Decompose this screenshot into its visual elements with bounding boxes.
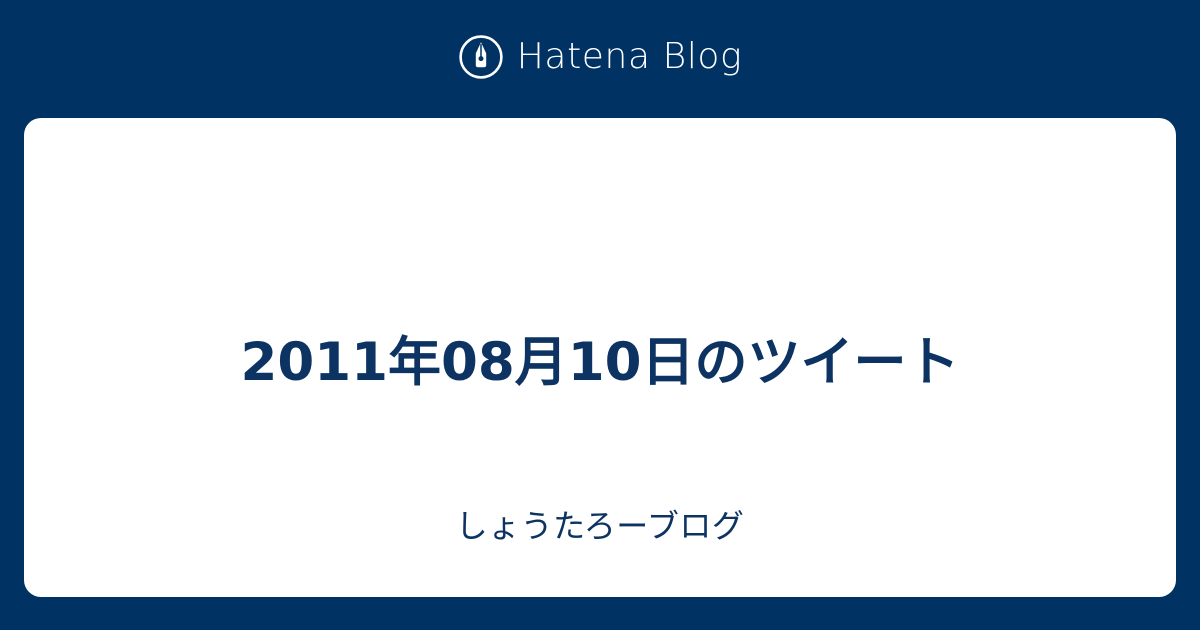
entry-title: 2011年08月10日のツイート — [24, 332, 1176, 393]
entry-card: 2011年08月10日のツイート しょうたろーブログ — [24, 118, 1176, 597]
service-header: Hatena Blog — [0, 0, 1200, 118]
pen-nib-circle-icon — [458, 34, 504, 80]
blog-name: しょうたろーブログ — [24, 507, 1176, 545]
og-image-canvas: Hatena Blog 2011年08月10日のツイート しょうたろーブログ — [0, 0, 1200, 630]
service-name-label: Hatena Blog — [517, 39, 743, 75]
hatena-blog-logo[interactable]: Hatena Blog — [458, 34, 743, 80]
